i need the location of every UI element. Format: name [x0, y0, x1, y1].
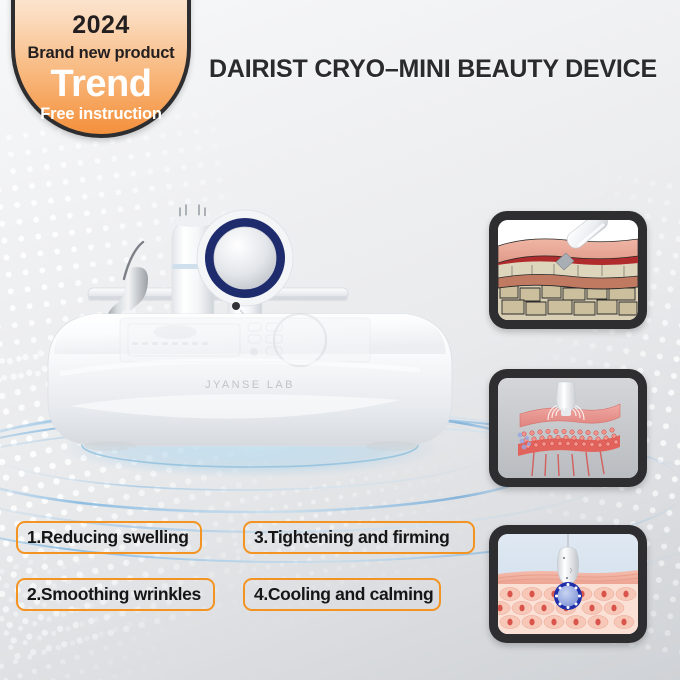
panel-image-rf-tightening — [498, 378, 638, 478]
product-device: JYANSE LAB — [0, 160, 500, 490]
feature-box-2[interactable]: 2.Smoothing wrinkles — [16, 578, 215, 611]
device-brand-mark: JYANSE LAB — [205, 379, 295, 391]
feature-label-3: 3.Tightening and firming — [254, 527, 449, 548]
feature-box-4[interactable]: 4.Cooling and calming — [243, 578, 441, 611]
feature-label-2: 2.Smoothing wrinkles — [27, 584, 201, 605]
illustration-panel-skin-scrubber — [489, 211, 647, 329]
feature-box-3[interactable]: 3.Tightening and firming — [243, 521, 475, 554]
badge-headline: Trend — [51, 65, 152, 103]
badge-subtitle-bottom: Free instruction — [40, 106, 162, 123]
console-body: JYANSE LAB — [48, 314, 452, 446]
feature-box-1[interactable]: 1.Reducing swelling — [16, 521, 202, 554]
page-title: DAIRIST CRYO–MINI BEAUTY DEVICE — [198, 56, 668, 84]
badge-subtitle-top: Brand new product — [28, 45, 175, 62]
panel-image-cryo-cooling — [498, 534, 638, 634]
badge-year: 2024 — [72, 13, 130, 38]
feature-label-4: 4.Cooling and calming — [254, 584, 433, 605]
promo-badge: 2024 Brand new product Trend Free instru… — [11, 0, 191, 138]
control-panel — [120, 314, 370, 366]
feature-label-1: 1.Reducing swelling — [27, 527, 189, 548]
product-poster: JYANSE LAB 2024 Brand new product Trend … — [0, 0, 680, 680]
illustration-panel-rf-tightening — [489, 369, 647, 487]
illustration-panel-cryo-cooling — [489, 525, 647, 643]
panel-image-skin-scrubber — [498, 220, 638, 320]
